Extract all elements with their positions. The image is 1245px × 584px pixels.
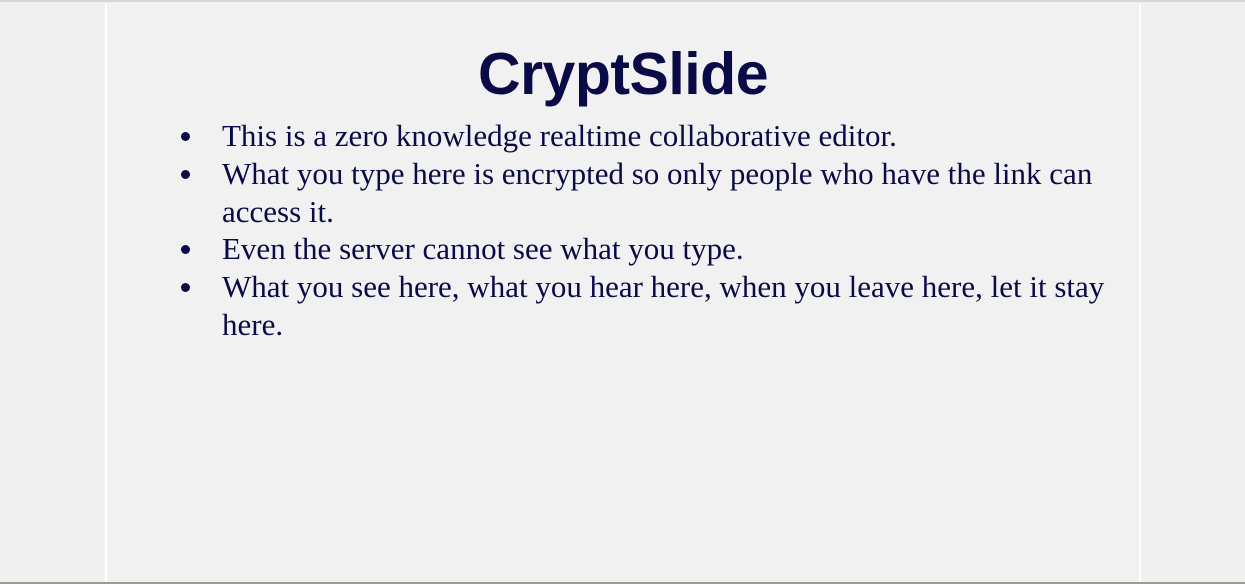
bullet-point-icon (181, 132, 190, 141)
list-item-text: Even the server cannot see what you type… (222, 231, 744, 266)
bullet-point-icon (181, 283, 190, 292)
list-item-text: What you type here is encrypted so only … (222, 156, 1092, 229)
bullet-point-icon (181, 170, 190, 179)
page-title[interactable]: CryptSlide (107, 42, 1139, 106)
list-item-text: This is a zero knowledge realtime collab… (222, 118, 897, 153)
list-item[interactable]: This is a zero knowledge realtime collab… (150, 117, 1110, 155)
list-item[interactable]: What you see here, what you hear here, w… (150, 268, 1110, 344)
slide-bullet-list: This is a zero knowledge realtime collab… (150, 117, 1110, 344)
list-item[interactable]: What you type here is encrypted so only … (150, 155, 1110, 231)
list-item-text: What you see here, what you hear here, w… (222, 269, 1104, 342)
bullet-point-icon (181, 245, 190, 254)
list-item[interactable]: Even the server cannot see what you type… (150, 230, 1110, 268)
page-frame: CryptSlide This is a zero knowledge real… (0, 0, 1245, 584)
slide-canvas[interactable]: CryptSlide This is a zero knowledge real… (105, 4, 1141, 582)
